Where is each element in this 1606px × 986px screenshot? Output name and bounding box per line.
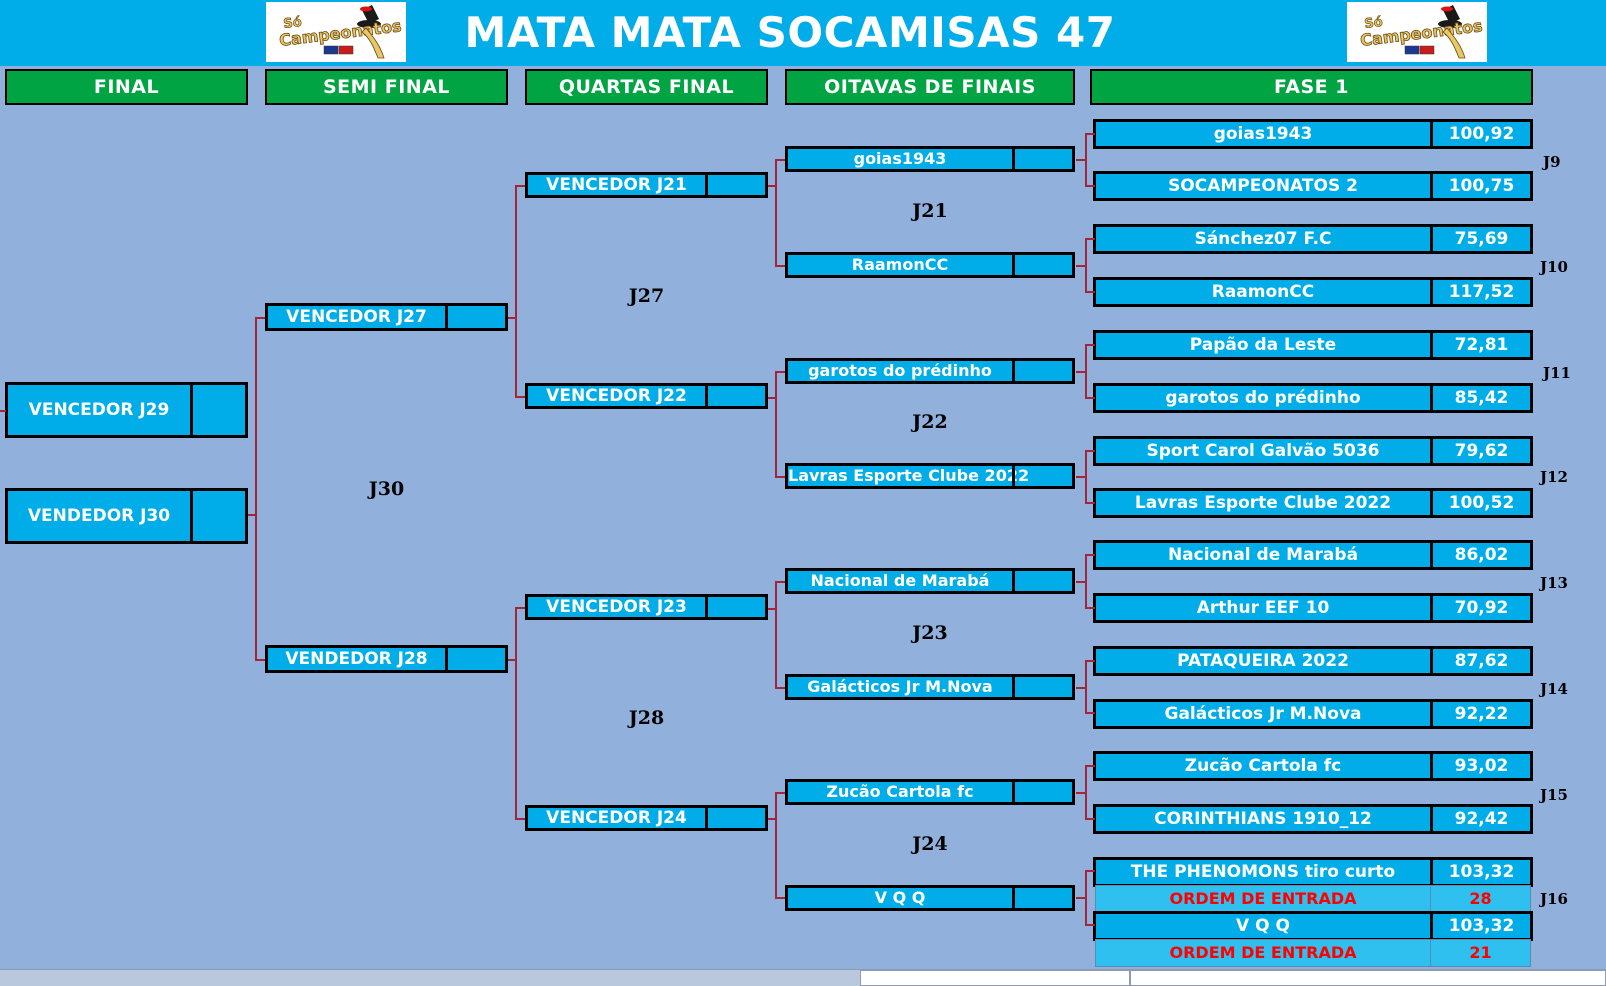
match-code-j22: J22: [785, 411, 1075, 433]
match-code-j23: J23: [785, 622, 1075, 644]
team-score: [705, 386, 765, 406]
team-score: [1012, 361, 1072, 381]
fase1-team-box[interactable]: Arthur EEF 10 70,92: [1093, 593, 1533, 623]
team-score: [705, 175, 765, 195]
phase-header-final: FINAL: [5, 69, 248, 105]
scrollbar-track-right[interactable]: [1130, 970, 1606, 986]
phase-header-quartas: QUARTAS FINAL: [525, 69, 768, 105]
oitavas-team-box[interactable]: Zucão Cartola fc: [785, 779, 1075, 805]
match-code-j28: J28: [525, 707, 768, 729]
so-campeonatos-logo-icon: Só Campeonatos: [1347, 2, 1487, 62]
team-score: 75,69: [1430, 227, 1530, 251]
team-name: CORINTHIANS 1910_12: [1096, 811, 1430, 828]
final-team-box[interactable]: VENDEDOR J30: [5, 488, 248, 544]
match-code-j16: J16: [1540, 890, 1568, 908]
match-code-j27: J27: [525, 285, 768, 307]
ordem-value: 28: [1430, 886, 1530, 912]
team-score: [1012, 466, 1072, 486]
team-name: Sport Carol Galvão 5036: [1096, 443, 1430, 460]
team-score: [190, 385, 245, 435]
team-name: VENDEDOR J28: [268, 651, 445, 668]
so-campeonatos-logo-icon: Só Campeonatos: [266, 2, 406, 62]
team-name: RaamonCC: [1096, 284, 1430, 301]
fase1-team-box[interactable]: V Q Q 103,32: [1093, 911, 1533, 941]
logo-left: Só Campeonatos: [266, 2, 406, 62]
team-name: Nacional de Marabá: [788, 573, 1012, 589]
fase1-team-box[interactable]: Zucão Cartola fc 93,02: [1093, 751, 1533, 781]
ordem-label: ORDEM DE ENTRADA: [1096, 891, 1430, 907]
team-score: [190, 491, 245, 541]
fase1-team-box[interactable]: Papão da Leste 72,81: [1093, 330, 1533, 360]
team-name: garotos do prédinho: [788, 363, 1012, 379]
bracket-stage: Só Campeonatos MATA MATA SOCAMISAS 47 Só…: [0, 0, 1606, 986]
team-score: 92,22: [1430, 702, 1530, 726]
semifinal-team-box[interactable]: VENCEDOR J27: [265, 303, 508, 331]
ordem-value: 21: [1430, 940, 1530, 966]
scrollbar-thumb[interactable]: [860, 970, 1130, 986]
team-name: RaamonCC: [788, 257, 1012, 273]
team-name: Lavras Esporte Clube 2022: [788, 468, 1012, 484]
match-code-j13: J13: [1540, 574, 1568, 592]
fase1-team-box[interactable]: CORINTHIANS 1910_12 92,42: [1093, 804, 1533, 834]
phase-header-semi: SEMI FINAL: [265, 69, 508, 105]
logo-right: Só Campeonatos: [1347, 2, 1487, 62]
oitavas-team-box[interactable]: Galácticos Jr M.Nova: [785, 674, 1075, 700]
team-score: 100,92: [1430, 122, 1530, 146]
team-score: 79,62: [1430, 439, 1530, 463]
oitavas-team-box[interactable]: V Q Q: [785, 885, 1075, 911]
team-name: Zucão Cartola fc: [1096, 758, 1430, 775]
team-name: SOCAMPEONATOS 2: [1096, 178, 1430, 195]
team-name: Sánchez07 F.C: [1096, 231, 1430, 248]
team-name: VENCEDOR J21: [528, 177, 705, 194]
team-score: [445, 648, 505, 670]
oitavas-team-box[interactable]: Nacional de Marabá: [785, 568, 1075, 594]
page-title: MATA MATA SOCAMISAS 47: [430, 4, 1150, 62]
fase1-team-box[interactable]: Nacional de Marabá 86,02: [1093, 540, 1533, 570]
team-score: 100,52: [1430, 491, 1530, 515]
team-name: Nacional de Marabá: [1096, 547, 1430, 564]
team-score: [705, 597, 765, 617]
team-score: 70,92: [1430, 596, 1530, 620]
team-name: VENCEDOR J27: [268, 309, 445, 326]
team-name: V Q Q: [1096, 918, 1430, 935]
match-code-j30: J30: [265, 478, 508, 500]
team-score: [1012, 149, 1072, 169]
team-score: [1012, 677, 1072, 697]
team-name: V Q Q: [788, 890, 1012, 906]
fase1-team-box[interactable]: goias1943 100,92: [1093, 119, 1533, 149]
match-code-j11: J11: [1543, 364, 1571, 382]
team-score: [1012, 571, 1072, 591]
oitavas-team-box[interactable]: garotos do prédinho: [785, 358, 1075, 384]
team-name: VENCEDOR J23: [528, 599, 705, 616]
team-score: 117,52: [1430, 280, 1530, 304]
team-score: 103,32: [1430, 914, 1530, 938]
quartas-team-box[interactable]: VENCEDOR J21: [525, 172, 768, 198]
fase1-team-box[interactable]: THE PHENOMONS tiro curto 103,32: [1093, 857, 1533, 887]
fase1-team-box[interactable]: PATAQUEIRA 2022 87,62: [1093, 646, 1533, 676]
fase1-team-box[interactable]: Sánchez07 F.C 75,69: [1093, 224, 1533, 254]
team-name: Galácticos Jr M.Nova: [1096, 706, 1430, 723]
team-score: [1012, 782, 1072, 802]
team-score: [445, 306, 505, 328]
phase-header-oitavas: OITAVAS DE FINAIS: [785, 69, 1075, 105]
title-banner: Só Campeonatos MATA MATA SOCAMISAS 47 Só…: [0, 0, 1606, 66]
semifinal-team-box[interactable]: VENDEDOR J28: [265, 645, 508, 673]
ordem-de-entrada-row: ORDEM DE ENTRADA 28: [1095, 885, 1531, 913]
team-name: goias1943: [788, 151, 1012, 167]
team-name: PATAQUEIRA 2022: [1096, 653, 1430, 670]
fase1-team-box[interactable]: SOCAMPEONATOS 2 100,75: [1093, 171, 1533, 201]
match-code-j9: J9: [1543, 153, 1561, 171]
quartas-team-box[interactable]: VENCEDOR J23: [525, 594, 768, 620]
team-score: 86,02: [1430, 543, 1530, 567]
team-score: 100,75: [1430, 174, 1530, 198]
match-code-j21: J21: [785, 200, 1075, 222]
match-code-j24: J24: [785, 833, 1075, 855]
match-code-j14: J14: [1540, 680, 1568, 698]
match-code-j10: J10: [1540, 258, 1568, 276]
ordem-label: ORDEM DE ENTRADA: [1096, 945, 1430, 961]
team-name: VENCEDOR J29: [8, 402, 190, 419]
match-code-j15: J15: [1540, 786, 1568, 804]
team-name: Zucão Cartola fc: [788, 784, 1012, 800]
team-name: VENCEDOR J22: [528, 388, 705, 405]
team-score: [705, 808, 765, 828]
team-score: [1012, 888, 1072, 908]
fase1-team-box[interactable]: RaamonCC 117,52: [1093, 277, 1533, 307]
fase1-team-box[interactable]: Sport Carol Galvão 5036 79,62: [1093, 436, 1533, 466]
team-score: 87,62: [1430, 649, 1530, 673]
team-score: 92,42: [1430, 807, 1530, 831]
fase1-team-box[interactable]: Lavras Esporte Clube 2022 100,52: [1093, 488, 1533, 518]
team-name: goias1943: [1096, 126, 1430, 143]
team-name: Papão da Leste: [1096, 337, 1430, 354]
team-score: [1012, 255, 1072, 275]
team-name: THE PHENOMONS tiro curto: [1096, 864, 1430, 881]
quartas-team-box[interactable]: VENCEDOR J22: [525, 383, 768, 409]
team-name: garotos do prédinho: [1096, 390, 1430, 407]
team-score: 72,81: [1430, 333, 1530, 357]
team-name: Lavras Esporte Clube 2022: [1096, 495, 1430, 512]
team-name: VENDEDOR J30: [8, 508, 190, 525]
oitavas-team-box[interactable]: Lavras Esporte Clube 2022: [785, 463, 1075, 489]
ordem-de-entrada-row: ORDEM DE ENTRADA 21: [1095, 939, 1531, 967]
final-team-box[interactable]: VENCEDOR J29: [5, 382, 248, 438]
team-score: 103,32: [1430, 860, 1530, 884]
oitavas-team-box[interactable]: RaamonCC: [785, 252, 1075, 278]
oitavas-team-box[interactable]: goias1943: [785, 146, 1075, 172]
team-name: VENCEDOR J24: [528, 810, 705, 827]
team-score: 93,02: [1430, 754, 1530, 778]
horizontal-scrollbar[interactable]: [0, 969, 1606, 986]
team-name: Galácticos Jr M.Nova: [788, 679, 1012, 695]
fase1-team-box[interactable]: Galácticos Jr M.Nova 92,22: [1093, 699, 1533, 729]
fase1-team-box[interactable]: garotos do prédinho 85,42: [1093, 383, 1533, 413]
team-name: Arthur EEF 10: [1096, 600, 1430, 617]
quartas-team-box[interactable]: VENCEDOR J24: [525, 805, 768, 831]
match-code-j12: J12: [1540, 468, 1568, 486]
team-score: 85,42: [1430, 386, 1530, 410]
phase-header-fase1: FASE 1: [1090, 69, 1533, 105]
